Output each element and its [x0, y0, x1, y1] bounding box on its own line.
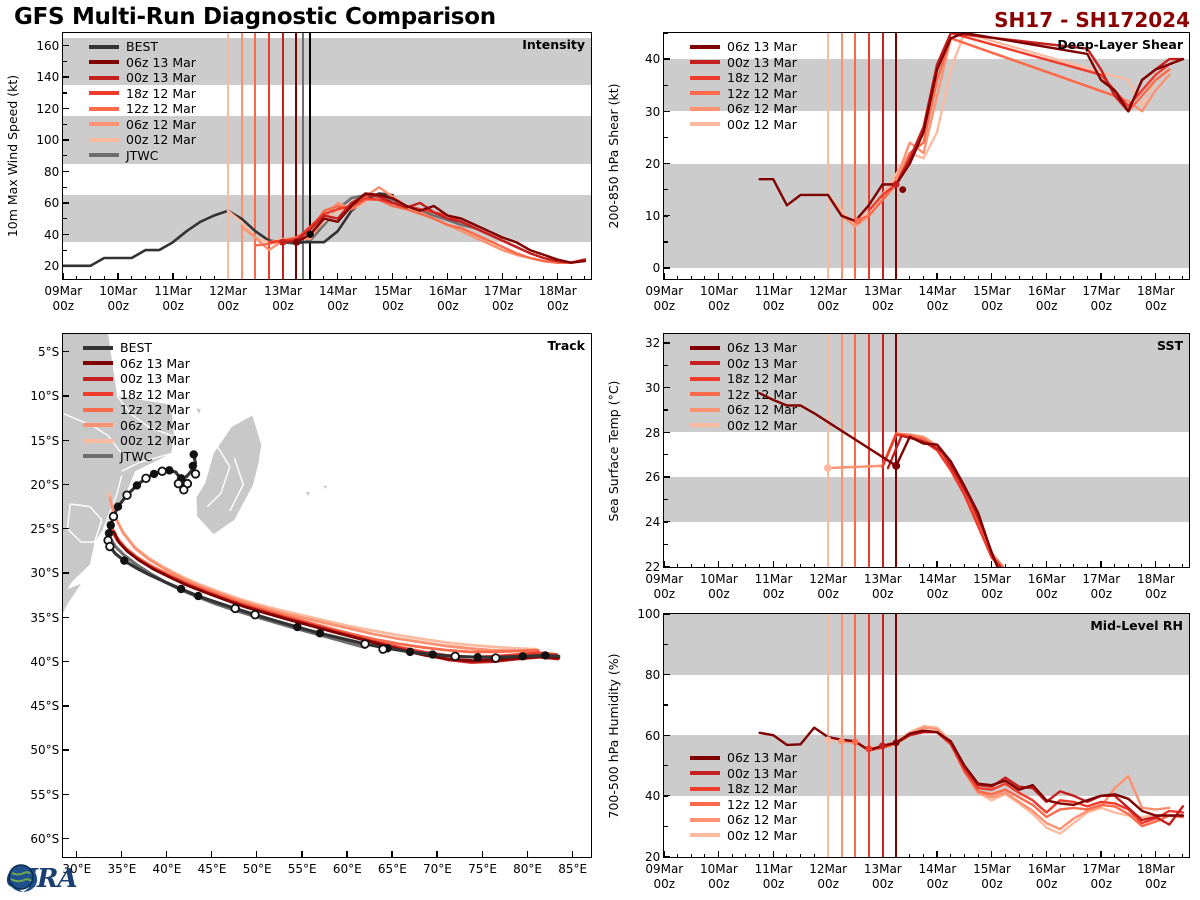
legend-item: 06z 12 Mar: [690, 402, 797, 418]
data-point-marker: [279, 239, 286, 246]
track-point-open: [492, 654, 500, 662]
y-tick-label: 30: [620, 105, 660, 119]
series-06z-13-mar: [760, 33, 1183, 221]
legend-item: 12z 12 Mar: [690, 387, 797, 403]
track-point-filled: [177, 585, 185, 593]
legend-item: 12z 12 Mar: [690, 797, 797, 813]
legend-swatch: [690, 818, 720, 822]
legend-swatch: [690, 377, 720, 381]
legend-item: 00z 13 Mar: [690, 356, 797, 372]
lon-tick-mark: [211, 851, 212, 857]
legend-label: 06z 13 Mar: [727, 340, 797, 355]
panel-intensity: Intensity BEST06z 13 Mar00z 13 Mar18z 12…: [62, 32, 592, 280]
legend-swatch: [83, 408, 113, 412]
legend-label: 00z 13 Mar: [727, 55, 797, 70]
track-point-open: [231, 605, 239, 613]
track-point-filled: [474, 653, 482, 661]
lon-tick-mark: [482, 851, 483, 857]
legend-swatch: [83, 454, 113, 458]
legend-swatch: [690, 45, 720, 49]
legend-swatch: [83, 361, 113, 365]
track-point-filled: [541, 651, 549, 659]
legend-label: 00z 12 Mar: [727, 828, 797, 843]
legend-item: 00z 13 Mar: [83, 371, 190, 387]
legend-swatch: [690, 122, 720, 126]
series-06z-12-mar: [242, 187, 572, 263]
y-tick-label: 28: [620, 426, 660, 440]
legend-swatch: [89, 45, 119, 49]
panel-track: Track BEST06z 13 Mar00z 13 Mar18z 12 Mar…: [62, 333, 592, 858]
legend-item: JTWC: [83, 449, 190, 465]
x-tick-label: 18Mar00z: [1124, 862, 1188, 892]
track-point-open: [175, 480, 183, 488]
shear-legend: 06z 13 Mar00z 13 Mar18z 12 Mar12z 12 Mar…: [690, 39, 797, 132]
data-point-marker: [293, 239, 300, 246]
lat-tick-label: 5°S: [13, 345, 59, 359]
lat-tick-mark: [63, 572, 69, 573]
legend-item: 00z 12 Mar: [89, 132, 196, 148]
legend-swatch: [83, 423, 113, 427]
lon-tick-mark: [166, 851, 167, 857]
lon-tick-mark: [527, 851, 528, 857]
legend-item: 18z 12 Mar: [690, 781, 797, 797]
series-06z-12-mar: [828, 433, 1003, 566]
legend-swatch: [690, 408, 720, 412]
legend-label: 12z 12 Mar: [727, 797, 797, 812]
legend-item: 18z 12 Mar: [83, 387, 190, 403]
legend-item: 00z 13 Mar: [690, 55, 797, 71]
data-point-marker: [824, 736, 831, 743]
lon-tick-mark: [121, 851, 122, 857]
x-tick-label: 18Mar00z: [1124, 572, 1188, 602]
y-axis-title: 10m Max Wind Speed (kt): [5, 75, 20, 237]
intensity-legend: BEST06z 13 Mar00z 13 Mar18z 12 Mar12z 12…: [89, 39, 196, 163]
legend-item: 00z 12 Mar: [690, 418, 797, 434]
lat-tick-mark: [63, 351, 69, 352]
y-tick-label: 120: [19, 102, 59, 116]
lat-tick-label: 35°S: [13, 611, 59, 625]
lon-tick-mark: [436, 851, 437, 857]
legend-swatch: [89, 138, 119, 142]
series-06z-13-mar: [760, 728, 1183, 816]
legend-swatch: [89, 60, 119, 64]
series-18z-12-mar: [869, 33, 1183, 211]
legend-swatch: [690, 756, 720, 760]
legend-swatch: [83, 377, 113, 381]
y-axis-title: 700-500 hPa Humidity (%): [606, 653, 621, 818]
legend-label: 06z 12 Mar: [126, 117, 196, 132]
legend-label: 00z 12 Mar: [126, 132, 196, 147]
panel-rh-label: Mid-Level RH: [1090, 618, 1183, 633]
legend-label: 06z 12 Mar: [727, 402, 797, 417]
data-point-marker: [307, 231, 314, 238]
track-point-filled: [194, 592, 202, 600]
legend-swatch: [690, 107, 720, 111]
legend-swatch: [83, 392, 113, 396]
track-legend: BEST06z 13 Mar00z 13 Mar18z 12 Mar12z 12…: [83, 340, 190, 464]
data-point-marker: [893, 181, 900, 188]
series-12z-12-mar: [855, 38, 1169, 221]
data-point-marker: [893, 739, 900, 746]
lat-tick-mark: [63, 528, 69, 529]
legend-swatch: [89, 107, 119, 111]
legend-item: BEST: [83, 340, 190, 356]
legend-item: 12z 12 Mar: [690, 86, 797, 102]
y-tick-label: 100: [620, 607, 660, 621]
lon-tick-mark: [301, 851, 302, 857]
y-tick-label: 10: [620, 209, 660, 223]
lon-tick-mark: [346, 851, 347, 857]
legend-label: 18z 12 Mar: [727, 70, 797, 85]
lat-tick-label: 15°S: [13, 434, 59, 448]
panel-sst: SST 06z 13 Mar00z 13 Mar18z 12 Mar12z 12…: [663, 333, 1190, 568]
lat-tick-label: 30°S: [13, 566, 59, 580]
track-point-filled: [519, 652, 527, 660]
lat-tick-label: 60°S: [13, 832, 59, 846]
legend-item: 06z 12 Mar: [690, 101, 797, 117]
lat-tick-mark: [63, 661, 69, 662]
y-tick-label: 160: [19, 39, 59, 53]
lat-tick-label: 45°S: [13, 699, 59, 713]
legend-label: 00z 12 Mar: [727, 418, 797, 433]
legend-item: 06z 12 Mar: [83, 418, 190, 434]
data-point-marker: [892, 462, 900, 470]
lon-tick-label: 85°E: [543, 862, 603, 877]
lat-tick-mark: [63, 617, 69, 618]
track-point-open: [451, 652, 459, 660]
track-point-filled: [316, 629, 324, 637]
lat-tick-label: 10°S: [13, 389, 59, 403]
track-point-filled: [120, 556, 128, 564]
legend-item: 18z 12 Mar: [690, 371, 797, 387]
landmass: [306, 492, 311, 496]
legend-label: BEST: [126, 39, 158, 54]
y-tick-label: 40: [620, 52, 660, 66]
legend-label: 00z 13 Mar: [126, 70, 196, 85]
data-point-marker: [855, 218, 862, 225]
legend-swatch: [690, 91, 720, 95]
legend-swatch: [89, 91, 119, 95]
legend-item: 06z 13 Mar: [89, 55, 196, 71]
legend-swatch: [690, 833, 720, 837]
lon-tick-mark: [572, 851, 573, 857]
panel-intensity-label: Intensity: [522, 37, 585, 52]
lon-tick-mark: [76, 851, 77, 857]
y-tick-label: 60: [620, 729, 660, 743]
legend-item: JTWC: [89, 148, 196, 164]
lat-tick-mark: [63, 838, 69, 839]
legend-swatch: [690, 802, 720, 806]
lat-tick-label: 20°S: [13, 478, 59, 492]
legend-label: BEST: [120, 340, 152, 355]
lat-tick-label: 40°S: [13, 655, 59, 669]
legend-swatch: [690, 423, 720, 427]
legend-label: 18z 12 Mar: [126, 86, 196, 101]
legend-label: JTWC: [126, 148, 158, 163]
legend-item: 00z 13 Mar: [690, 766, 797, 782]
legend-item: 00z 12 Mar: [83, 433, 190, 449]
legend-item: 18z 12 Mar: [89, 86, 196, 102]
y-tick-label: 40: [620, 789, 660, 803]
legend-item: 06z 13 Mar: [690, 340, 797, 356]
lat-tick-mark: [63, 395, 69, 396]
legend-item: BEST: [89, 39, 196, 55]
legend-label: 18z 12 Mar: [727, 371, 797, 386]
track-point-filled: [190, 450, 198, 458]
lat-tick-mark: [63, 440, 69, 441]
lon-tick-mark: [256, 851, 257, 857]
lat-tick-mark: [63, 484, 69, 485]
track-point-open: [192, 470, 200, 478]
y-tick-label: 30: [620, 381, 660, 395]
data-point-marker: [899, 186, 906, 193]
track-00z-13-mar: [114, 531, 558, 662]
legend-swatch: [690, 76, 720, 80]
y-tick-label: 80: [19, 165, 59, 179]
sst-legend: 06z 13 Mar00z 13 Mar18z 12 Mar12z 12 Mar…: [690, 340, 797, 433]
series-00z-12-mar: [828, 726, 1156, 834]
legend-label: 06z 12 Mar: [120, 418, 190, 433]
track-06z-13-mar: [114, 532, 558, 660]
track-point-filled: [406, 648, 414, 656]
lat-tick-mark: [63, 794, 69, 795]
data-point-marker: [879, 742, 886, 749]
lat-tick-mark: [63, 705, 69, 706]
legend-swatch: [690, 361, 720, 365]
lat-tick-label: 55°S: [13, 788, 59, 802]
x-tick-label: 18Mar00z: [526, 284, 590, 314]
legend-label: 00z 13 Mar: [727, 356, 797, 371]
data-point-marker: [824, 464, 832, 472]
legend-item: 12z 12 Mar: [89, 101, 196, 117]
track-point-open: [142, 475, 150, 483]
legend-item: 18z 12 Mar: [690, 70, 797, 86]
legend-swatch: [690, 771, 720, 775]
legend-label: 06z 13 Mar: [727, 39, 797, 54]
y-tick-label: 140: [19, 70, 59, 84]
lat-tick-label: 50°S: [13, 743, 59, 757]
storm-id-label: SH17 - SH172024: [994, 8, 1190, 32]
legend-label: JTWC: [120, 449, 152, 464]
legend-label: 12z 12 Mar: [120, 402, 190, 417]
track-point-filled: [114, 502, 122, 510]
legend-item: 06z 13 Mar: [690, 39, 797, 55]
track-point-filled: [150, 470, 158, 478]
legend-label: 06z 13 Mar: [727, 750, 797, 765]
data-point-marker: [865, 745, 872, 752]
y-tick-label: 0: [620, 261, 660, 275]
series-18z-12-mar: [883, 435, 1000, 567]
legend-label: 06z 13 Mar: [126, 55, 196, 70]
track-point-open: [251, 611, 259, 619]
legend-label: 06z 13 Mar: [120, 356, 190, 371]
legend-item: 06z 12 Mar: [89, 117, 196, 133]
legend-swatch: [89, 76, 119, 80]
y-axis-title: Sea Surface Temp (°C): [606, 380, 621, 521]
y-tick-label: 80: [620, 668, 660, 682]
x-tick-label: 18Mar00z: [1124, 284, 1188, 314]
panel-track-label: Track: [548, 338, 585, 353]
page-title: GFS Multi-Run Diagnostic Comparison: [14, 4, 496, 30]
legend-swatch: [83, 346, 113, 350]
legend-item: 00z 13 Mar: [89, 70, 196, 86]
legend-label: 18z 12 Mar: [727, 781, 797, 796]
track-point-filled: [133, 481, 141, 489]
track-point-open: [110, 513, 118, 521]
y-tick-label: 26: [620, 470, 660, 484]
lat-tick-mark: [63, 749, 69, 750]
track-point-filled: [428, 650, 436, 658]
legend-label: 06z 12 Mar: [727, 812, 797, 827]
landmass: [324, 485, 328, 489]
y-tick-label: 20: [19, 259, 59, 273]
legend-swatch: [89, 153, 119, 157]
track-point-open: [361, 640, 369, 648]
panel-shear: Deep-Layer Shear 06z 13 Mar00z 13 Mar18z…: [663, 32, 1190, 280]
rh-legend: 06z 13 Mar00z 13 Mar18z 12 Mar12z 12 Mar…: [690, 750, 797, 843]
globe-icon: [8, 864, 34, 890]
track-point-open: [379, 645, 387, 653]
series-00z-13-mar: [888, 436, 1000, 567]
legend-label: 00z 12 Mar: [120, 433, 190, 448]
lat-tick-label: 25°S: [13, 522, 59, 536]
legend-item: 00z 12 Mar: [690, 117, 797, 133]
legend-item: 06z 13 Mar: [83, 356, 190, 372]
y-tick-label: 32: [620, 336, 660, 350]
legend-label: 18z 12 Mar: [120, 387, 190, 402]
legend-swatch: [89, 122, 119, 126]
landmass: [196, 408, 201, 413]
panel-sst-label: SST: [1157, 338, 1183, 353]
legend-label: 06z 12 Mar: [727, 101, 797, 116]
legend-swatch: [690, 392, 720, 396]
y-tick-label: 40: [19, 228, 59, 242]
cira-logo: CIRA: [6, 864, 77, 894]
legend-item: 00z 12 Mar: [690, 828, 797, 844]
y-tick-label: 24: [620, 515, 660, 529]
track-point-open: [158, 467, 166, 475]
legend-label: 00z 13 Mar: [727, 766, 797, 781]
landmass: [196, 416, 261, 535]
track-point-open: [123, 491, 131, 499]
data-point-marker: [852, 738, 859, 745]
legend-swatch: [690, 60, 720, 64]
legend-label: 00z 12 Mar: [727, 117, 797, 132]
y-tick-label: 20: [620, 157, 660, 171]
lon-tick-mark: [391, 851, 392, 857]
track-point-open: [106, 543, 114, 551]
legend-item: 12z 12 Mar: [83, 402, 190, 418]
legend-swatch: [83, 439, 113, 443]
legend-label: 12z 12 Mar: [126, 101, 196, 116]
panel-shear-label: Deep-Layer Shear: [1057, 37, 1183, 52]
legend-item: 06z 12 Mar: [690, 812, 797, 828]
track-point-filled: [293, 623, 301, 631]
track-point-filled: [107, 521, 115, 529]
y-tick-label: 60: [19, 196, 59, 210]
legend-label: 00z 13 Mar: [120, 371, 190, 386]
legend-swatch: [690, 787, 720, 791]
legend-item: 06z 13 Mar: [690, 750, 797, 766]
legend-label: 12z 12 Mar: [727, 86, 797, 101]
data-point-marker: [838, 738, 845, 745]
y-axis-title: 200-850 hPa Shear (kt): [606, 84, 621, 229]
panel-rh: Mid-Level RH 06z 13 Mar00z 13 Mar18z 12 …: [663, 613, 1190, 858]
legend-swatch: [690, 346, 720, 350]
legend-label: 12z 12 Mar: [727, 387, 797, 402]
y-tick-label: 100: [19, 133, 59, 147]
